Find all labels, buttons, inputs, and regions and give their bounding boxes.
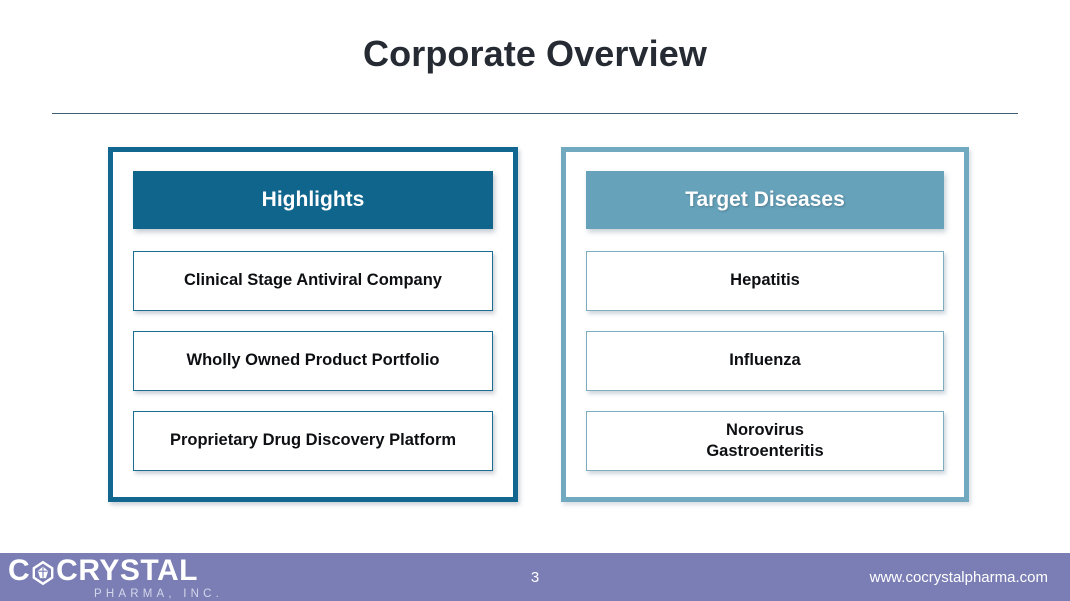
list-item-label-line2: Gastroenteritis [706, 441, 823, 462]
panel-target-diseases: Target Diseases Hepatitis Influenza Noro… [561, 147, 969, 502]
page-title: Corporate Overview [0, 33, 1070, 75]
list-item[interactable]: Influenza [586, 331, 944, 391]
company-website-url[interactable]: www.cocrystalpharma.com [870, 553, 1048, 601]
panel-target-diseases-content: Target Diseases Hepatitis Influenza Noro… [566, 152, 964, 497]
list-item[interactable]: Norovirus Gastroenteritis [586, 411, 944, 471]
slide-footer: C CRYSTAL PHARMA, INC. 3 www.cocrystalph… [0, 553, 1070, 601]
list-item-label-line1: Norovirus [726, 421, 804, 439]
panel-highlights-content: Highlights Clinical Stage Antiviral Comp… [113, 152, 513, 497]
list-item[interactable]: Proprietary Drug Discovery Platform [133, 411, 493, 471]
list-item[interactable]: Clinical Stage Antiviral Company [133, 251, 493, 311]
panel-target-diseases-header: Target Diseases [586, 171, 944, 229]
list-item[interactable]: Wholly Owned Product Portfolio [133, 331, 493, 391]
list-item[interactable]: Hepatitis [586, 251, 944, 311]
title-divider [52, 113, 1018, 114]
panel-highlights-header: Highlights [133, 171, 493, 229]
panel-highlights: Highlights Clinical Stage Antiviral Comp… [108, 147, 518, 502]
